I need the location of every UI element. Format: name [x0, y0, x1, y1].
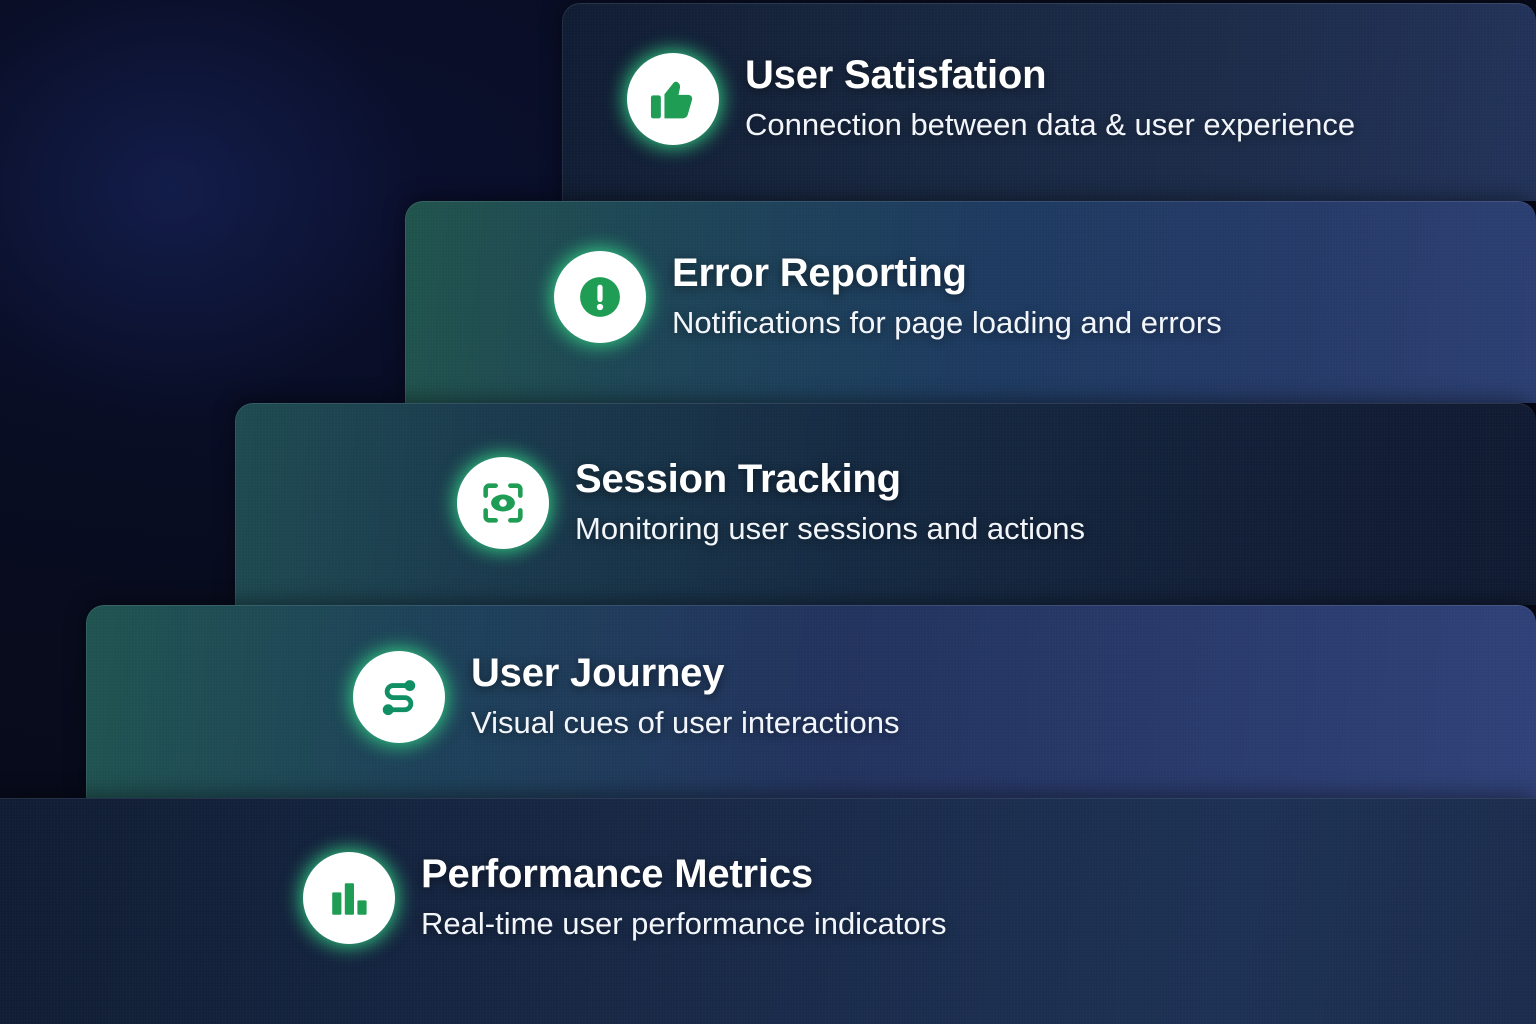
eye-scan-icon — [457, 457, 549, 549]
icon-badge-session-tracking — [457, 457, 549, 549]
text-block-user-satisfation: User Satisfation Connection between data… — [745, 52, 1355, 145]
card-subtitle: Connection between data & user experienc… — [745, 105, 1355, 145]
row-error-reporting[interactable]: Error Reporting Notifications for page l… — [554, 250, 1222, 343]
journey-path-icon — [353, 651, 445, 743]
card-title: Session Tracking — [575, 456, 1085, 503]
card-subtitle: Monitoring user sessions and actions — [575, 509, 1085, 549]
row-session-tracking[interactable]: Session Tracking Monitoring user session… — [457, 456, 1085, 549]
card-subtitle: Real-time user performance indicators — [421, 904, 947, 944]
row-performance-metrics[interactable]: Performance Metrics Real-time user perfo… — [303, 851, 947, 944]
text-block-session-tracking: Session Tracking Monitoring user session… — [575, 456, 1085, 549]
bar-chart-icon — [303, 852, 395, 944]
row-user-satisfation[interactable]: User Satisfation Connection between data… — [627, 52, 1355, 145]
card-title: Performance Metrics — [421, 851, 947, 898]
card-title: User Journey — [471, 650, 900, 697]
text-block-error-reporting: Error Reporting Notifications for page l… — [672, 250, 1222, 343]
text-block-user-journey: User Journey Visual cues of user interac… — [471, 650, 900, 743]
icon-badge-user-journey — [353, 651, 445, 743]
text-block-performance-metrics: Performance Metrics Real-time user perfo… — [421, 851, 947, 944]
thumbs-up-icon — [627, 53, 719, 145]
alert-circle-icon — [554, 251, 646, 343]
icon-badge-performance-metrics — [303, 852, 395, 944]
row-user-journey[interactable]: User Journey Visual cues of user interac… — [353, 650, 900, 743]
card-subtitle: Visual cues of user interactions — [471, 703, 900, 743]
icon-badge-error-reporting — [554, 251, 646, 343]
card-subtitle: Notifications for page loading and error… — [672, 303, 1222, 343]
feature-stack-diagram: User Satisfation Connection between data… — [0, 0, 1536, 1024]
card-title: User Satisfation — [745, 52, 1355, 99]
card-title: Error Reporting — [672, 250, 1222, 297]
icon-badge-user-satisfation — [627, 53, 719, 145]
